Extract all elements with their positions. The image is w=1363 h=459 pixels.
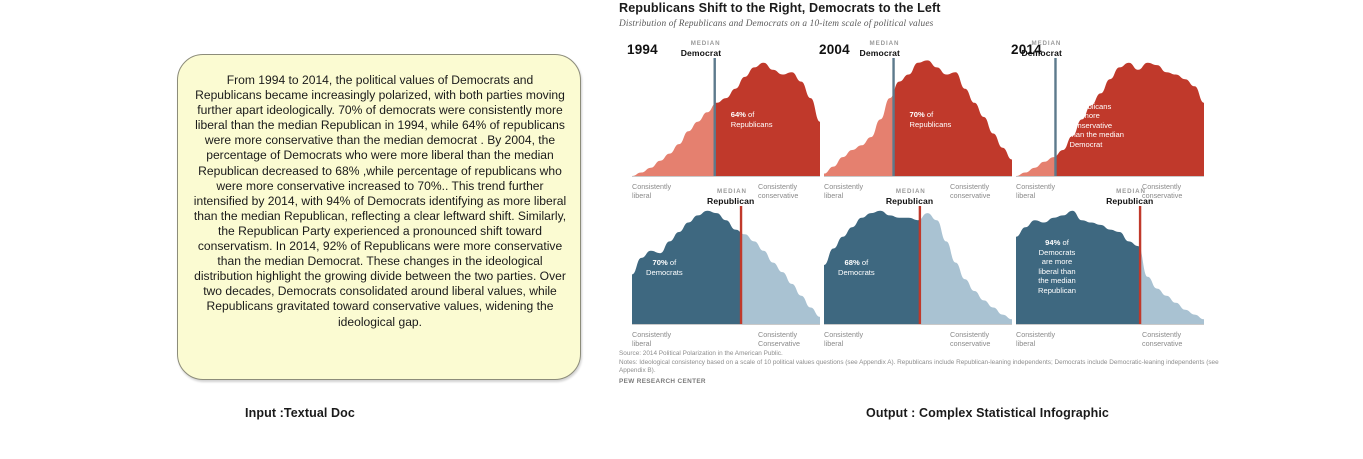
callout-percent-republicans-2004: 70% [910, 110, 925, 119]
callout-percent-republicans-2014: 92% [1069, 92, 1084, 101]
callout-democrats-2004: 68% of Democrats [838, 258, 875, 277]
axis-label-right-line2-democrats-1994: Conservative [758, 339, 800, 348]
output-caption-label: Output : Complex Statistical Infographic [612, 406, 1363, 420]
axis-label-left-line2-democrats-2014: liberal [1016, 339, 1055, 348]
axis-label-right-democrats-1994: ConsistentlyConservative [758, 330, 800, 348]
axis-label-right-democrats-2004: Consistentlyconservative [950, 330, 990, 348]
axis-label-left-line2-republicans-2014: liberal [1016, 191, 1055, 200]
median-party-republicans-2004: Democrat [860, 48, 900, 58]
input-document-panel: From 1994 to 2014, the political values … [0, 0, 600, 459]
axis-label-left-republicans-1994: Consistentlyliberal [632, 182, 671, 200]
output-infographic-panel: Republicans Shift to the Right, Democrat… [612, 0, 1363, 459]
median-kicker-republicans-1994: MEDIAN [691, 40, 721, 47]
callout-republicans-1994: 64% of Republicans [731, 110, 773, 129]
axis-label-left-democrats-2004: Consistentlyliberal [824, 330, 863, 348]
input-caption-label: Input :Textual Doc [0, 406, 600, 420]
callout-democrats-2014: 94% of Democrats are more liberal than t… [1038, 238, 1076, 296]
pew-research-center-label: PEW RESEARCH CENTER [619, 378, 706, 385]
axis-label-left-democrats-2014: Consistentlyliberal [1016, 330, 1055, 348]
axis-label-left-republicans-2014: Consistentlyliberal [1016, 182, 1055, 200]
infographic-subtitle: Distribution of Republicans and Democrat… [619, 19, 933, 29]
callout-democrats-1994: 70% of Democrats [646, 258, 683, 277]
axis-label-right-republicans-1994: Consistentlyconservative [758, 182, 798, 200]
axis-label-right-line2-republicans-1994: conservative [758, 191, 798, 200]
callout-percent-democrats-2014: 94% [1045, 238, 1060, 247]
infographic-title: Republicans Shift to the Right, Democrat… [619, 1, 941, 15]
median-kicker-democrats-2014: MEDIAN [1116, 188, 1146, 195]
median-kicker-democrats-2004: MEDIAN [896, 188, 926, 195]
axis-label-left-democrats-1994: Consistentlyliberal [632, 330, 671, 348]
callout-percent-democrats-1994: 70% [653, 258, 668, 267]
callout-percent-republicans-1994: 64% [731, 110, 746, 119]
source-line: Source: 2014 Political Polarization in t… [619, 350, 1219, 359]
median-party-republicans-2014: Democrat [1021, 48, 1061, 58]
axis-label-left-line2-democrats-2004: liberal [824, 339, 863, 348]
axis-label-right-line2-republicans-2004: conservative [950, 191, 990, 200]
median-party-democrats-2004: Republican [886, 196, 933, 206]
year-label-2004: 2004 [819, 42, 850, 57]
callout-republicans-2014: 92% of Republicans are more conservative… [1069, 92, 1123, 150]
axis-label-left-line2-democrats-1994: liberal [632, 339, 671, 348]
input-document-card: From 1994 to 2014, the political values … [177, 54, 581, 380]
median-kicker-democrats-1994: MEDIAN [717, 188, 747, 195]
input-document-text: From 1994 to 2014, the political values … [192, 73, 568, 330]
axis-label-right-democrats-2014: Consistentlyconservative [1142, 330, 1182, 348]
median-kicker-republicans-2004: MEDIAN [870, 40, 900, 47]
axis-label-right-line2-democrats-2004: conservative [950, 339, 990, 348]
axis-label-right-republicans-2004: Consistentlyconservative [950, 182, 990, 200]
callout-republicans-2004: 70% of Republicans [910, 110, 952, 129]
median-party-republicans-1994: Democrat [681, 48, 721, 58]
axis-label-left-republicans-2004: Consistentlyliberal [824, 182, 863, 200]
axis-label-left-line2-republicans-2004: liberal [824, 191, 863, 200]
median-party-democrats-2014: Republican [1106, 196, 1153, 206]
median-kicker-republicans-2014: MEDIAN [1031, 40, 1061, 47]
axis-label-left-line2-republicans-1994: liberal [632, 191, 671, 200]
year-label-1994: 1994 [627, 42, 658, 57]
callout-percent-democrats-2004: 68% [845, 258, 860, 267]
notes-line: Notes: Ideological consistency based on … [619, 359, 1219, 376]
median-party-democrats-1994: Republican [707, 196, 754, 206]
infographic-source-notes: Source: 2014 Political Polarization in t… [619, 350, 1219, 376]
axis-label-right-line2-democrats-2014: conservative [1142, 339, 1182, 348]
